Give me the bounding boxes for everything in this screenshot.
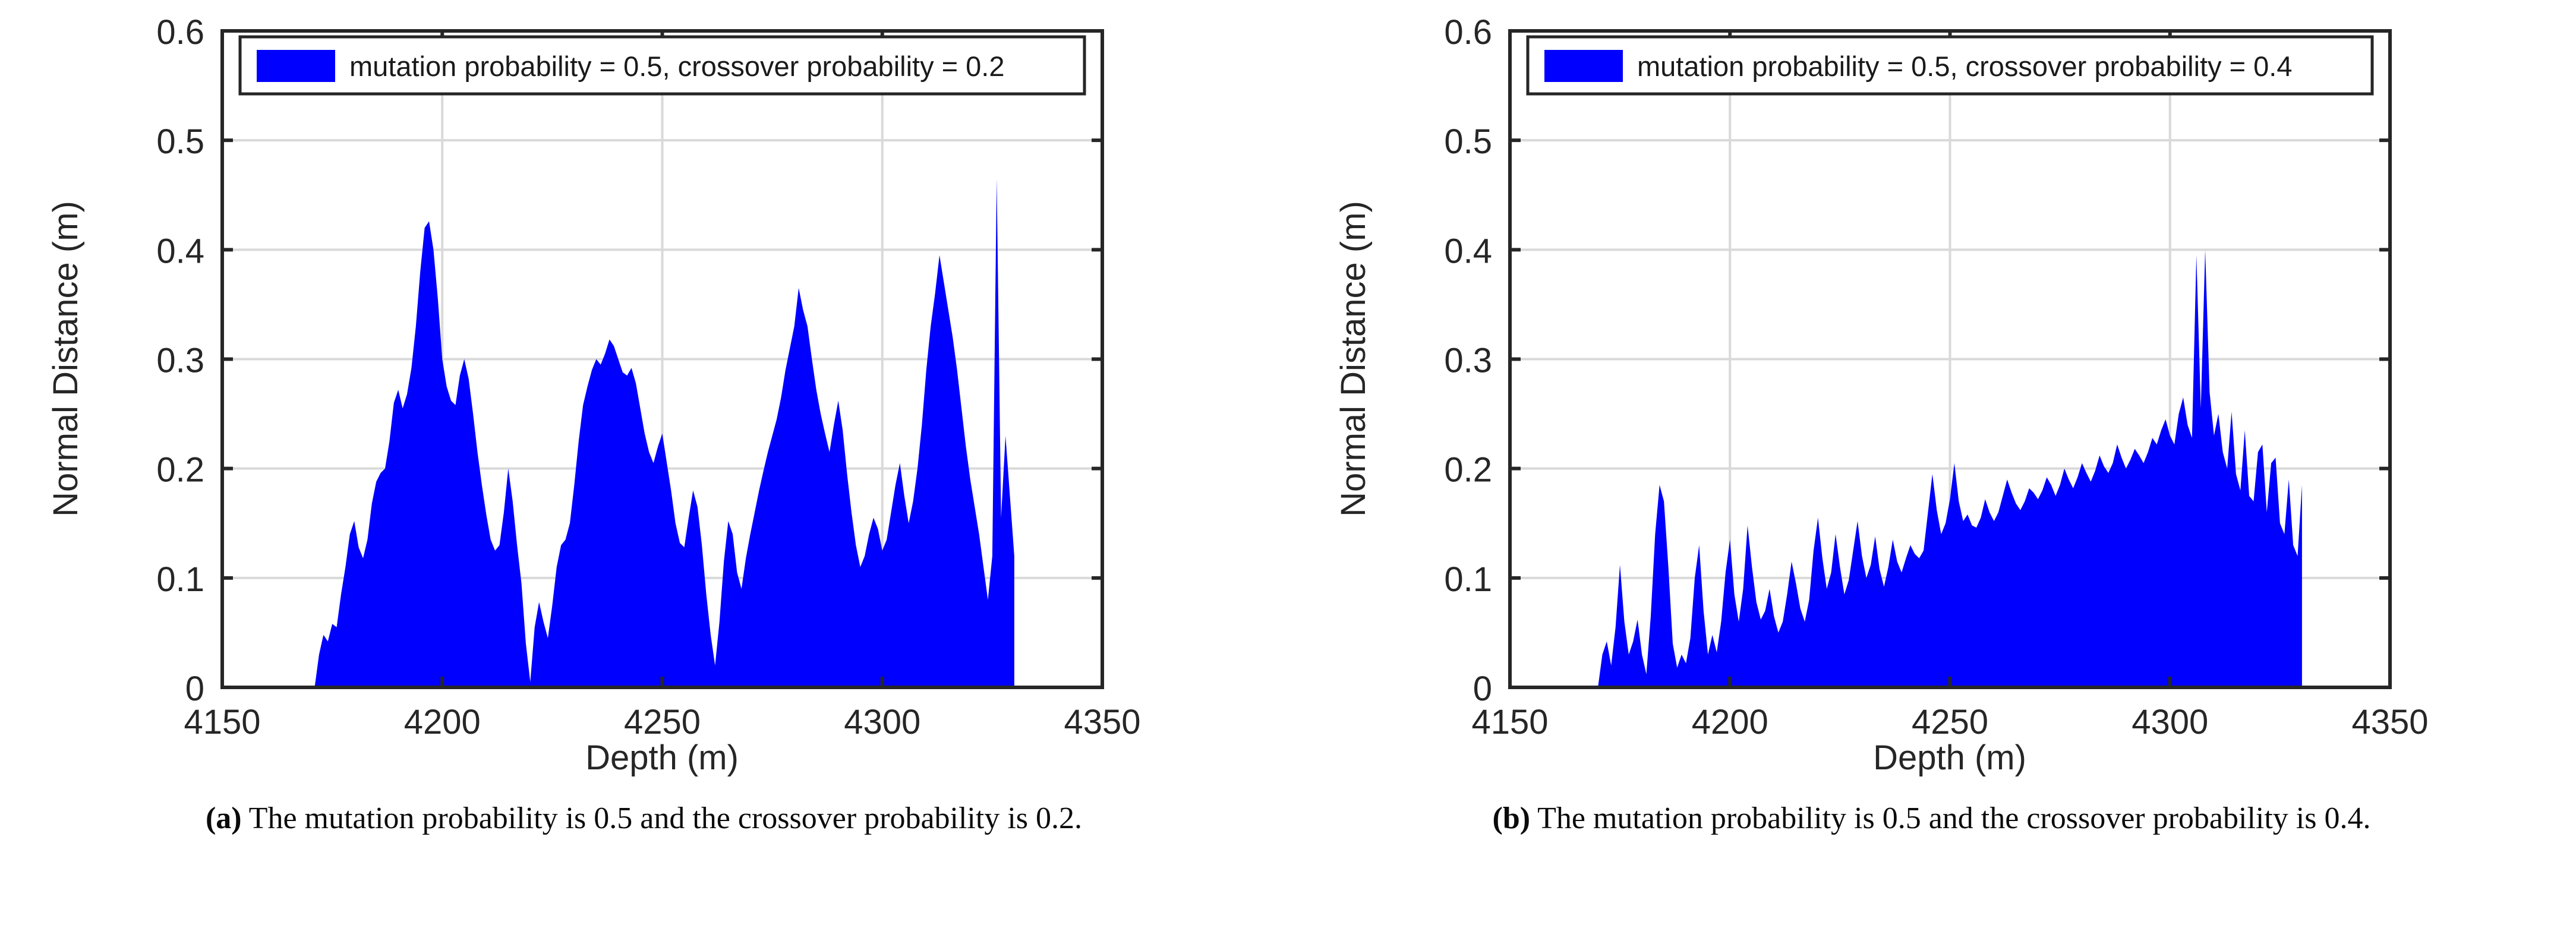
chart-a-svg: 00.10.20.30.40.50.6 41504200425043004350… [0, 0, 1288, 799]
x-tick-label-4300: 4300 [844, 703, 920, 741]
x-tick-label-4150: 4150 [1471, 703, 1548, 741]
caption-b-text: The mutation probability is 0.5 and the … [1530, 801, 2370, 835]
x-axis-title-a: Depth (m) [585, 738, 739, 777]
legend-color-swatch-a [257, 50, 335, 82]
y-tick-label-0.6: 0.6 [156, 13, 204, 52]
legend-label-a: mutation probability = 0.5, crossover pr… [349, 50, 1004, 82]
x-tick-labels-b: 41504200425043004350 [1471, 703, 2428, 741]
caption-a-tag: (a) [206, 801, 242, 835]
plot-b: 00.10.20.30.40.50.6 41504200425043004350… [1288, 0, 2575, 799]
y-tick-label-0.5: 0.5 [156, 122, 204, 161]
figure-container: 00.10.20.30.40.50.6 41504200425043004350… [0, 0, 2576, 925]
y-axis-title-b: Normal Distance (m) [1334, 201, 1373, 517]
panel-b: 00.10.20.30.40.50.6 41504200425043004350… [1288, 0, 2575, 925]
legend-a[interactable]: mutation probability = 0.5, crossover pr… [240, 37, 1084, 94]
y-tick-label-0.2: 0.2 [1444, 451, 1492, 490]
caption-b: (b) The mutation probability is 0.5 and … [1288, 799, 2575, 838]
y-axis-title-a: Normal Distance (m) [46, 201, 85, 517]
legend-color-swatch-b [1544, 50, 1623, 82]
series-area-a [315, 179, 1014, 687]
x-axis-title-b: Depth (m) [1873, 738, 2026, 777]
y-tick-label-0.6: 0.6 [1444, 13, 1492, 52]
plot-a: 00.10.20.30.40.50.6 41504200425043004350… [0, 0, 1288, 799]
legend-label-b: mutation probability = 0.5, crossover pr… [1637, 50, 2292, 82]
y-tick-label-0.1: 0.1 [156, 560, 204, 599]
panel-a: 00.10.20.30.40.50.6 41504200425043004350… [0, 0, 1288, 925]
y-tick-label-0.5: 0.5 [1444, 122, 1492, 161]
y-tick-label-0.3: 0.3 [1444, 342, 1492, 380]
caption-a-text: The mutation probability is 0.5 and the … [242, 801, 1082, 835]
y-tick-label-0.1: 0.1 [1444, 560, 1492, 599]
y-tick-label-0.4: 0.4 [156, 232, 204, 270]
x-tick-label-4350: 4350 [1064, 703, 1140, 741]
y-tick-label-0.2: 0.2 [156, 451, 204, 490]
y-tick-label-0.3: 0.3 [156, 342, 204, 380]
area-series-a [315, 179, 1014, 687]
x-tick-label-4250: 4250 [1912, 703, 1988, 741]
y-tick-labels-a: 00.10.20.30.40.50.6 [156, 13, 204, 708]
caption-a: (a) The mutation probability is 0.5 and … [0, 799, 1288, 838]
y-tick-labels-b: 00.10.20.30.40.50.6 [1444, 13, 1492, 708]
y-tick-label-0.4: 0.4 [1444, 232, 1492, 270]
chart-b-svg: 00.10.20.30.40.50.6 41504200425043004350… [1288, 0, 2575, 799]
x-tick-label-4250: 4250 [624, 703, 701, 741]
caption-b-tag: (b) [1493, 801, 1531, 835]
x-tick-label-4200: 4200 [1692, 703, 1768, 741]
x-tick-label-4200: 4200 [404, 703, 481, 741]
x-tick-label-4350: 4350 [2351, 703, 2428, 741]
legend-b[interactable]: mutation probability = 0.5, crossover pr… [1528, 37, 2372, 94]
x-tick-label-4150: 4150 [184, 703, 260, 741]
x-tick-label-4300: 4300 [2132, 703, 2208, 741]
x-tick-labels-a: 41504200425043004350 [184, 703, 1140, 741]
